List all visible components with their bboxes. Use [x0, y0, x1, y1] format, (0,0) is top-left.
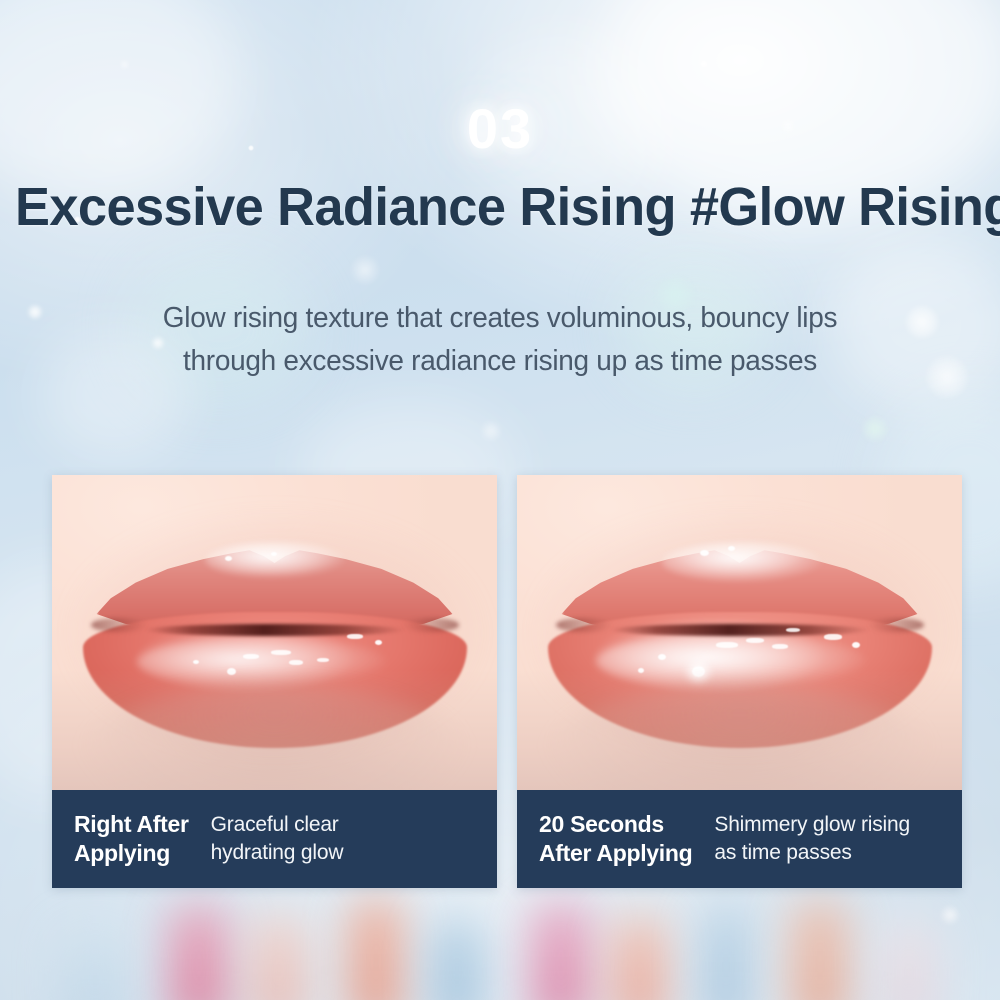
photo-bottom-shadow: [517, 670, 962, 790]
panel-caption-right-after: Right After Applying Graceful clear hydr…: [52, 790, 497, 888]
panel-20-seconds[interactable]: 20 Seconds After Applying Shimmery glow …: [517, 475, 962, 888]
gloss-sparkle: [852, 642, 860, 648]
page-title: Excessive Radiance Rising #Glow Rising: [15, 176, 985, 238]
gloss-sparkle: [772, 644, 788, 649]
mouth-line: [145, 624, 405, 636]
gloss-sparkle: [716, 642, 738, 648]
section-number: 03: [0, 96, 1000, 161]
gloss-sparkle: [658, 654, 666, 660]
subtitle-line-2: through excessive radiance rising up as …: [18, 340, 983, 383]
mouth-corner-left: [91, 618, 147, 632]
gloss-sparkle: [347, 634, 363, 639]
gloss-sparkle: [728, 546, 735, 551]
upper-lip-highlight: [662, 542, 822, 582]
subtitle-line-1: Glow rising texture that creates volumin…: [18, 297, 983, 340]
gloss-sparkle: [786, 628, 800, 632]
caption-description: Shimmery glow rising as time passes: [714, 811, 910, 866]
caption-description: Graceful clear hydrating glow: [211, 811, 344, 866]
mouth-corner-left: [556, 618, 612, 632]
gloss-sparkle: [193, 660, 199, 664]
photo-bottom-shadow: [52, 670, 497, 790]
gloss-sparkle: [746, 638, 764, 643]
gloss-sparkle: [700, 550, 709, 556]
gloss-sparkle: [289, 660, 303, 665]
comparison-panels: Right After Applying Graceful clear hydr…: [52, 475, 962, 888]
gloss-sparkle: [243, 654, 259, 659]
panel-caption-20-seconds: 20 Seconds After Applying Shimmery glow …: [517, 790, 962, 888]
gloss-sparkle: [271, 650, 291, 655]
mouth-corner-right: [403, 618, 459, 632]
caption-title: 20 Seconds After Applying: [539, 810, 692, 869]
panel-right-after[interactable]: Right After Applying Graceful clear hydr…: [52, 475, 497, 888]
caption-title: Right After Applying: [74, 810, 189, 869]
gloss-sparkle: [225, 556, 232, 561]
gloss-sparkle: [271, 552, 277, 556]
gloss-sparkle: [824, 634, 842, 640]
page-subtitle: Glow rising texture that creates volumin…: [18, 297, 983, 382]
gloss-sparkle: [317, 658, 329, 662]
gloss-sparkle: [375, 640, 382, 645]
lip-photo-right-after: [52, 475, 497, 790]
lip-photo-20-seconds: [517, 475, 962, 790]
mouth-corner-right: [868, 618, 924, 632]
